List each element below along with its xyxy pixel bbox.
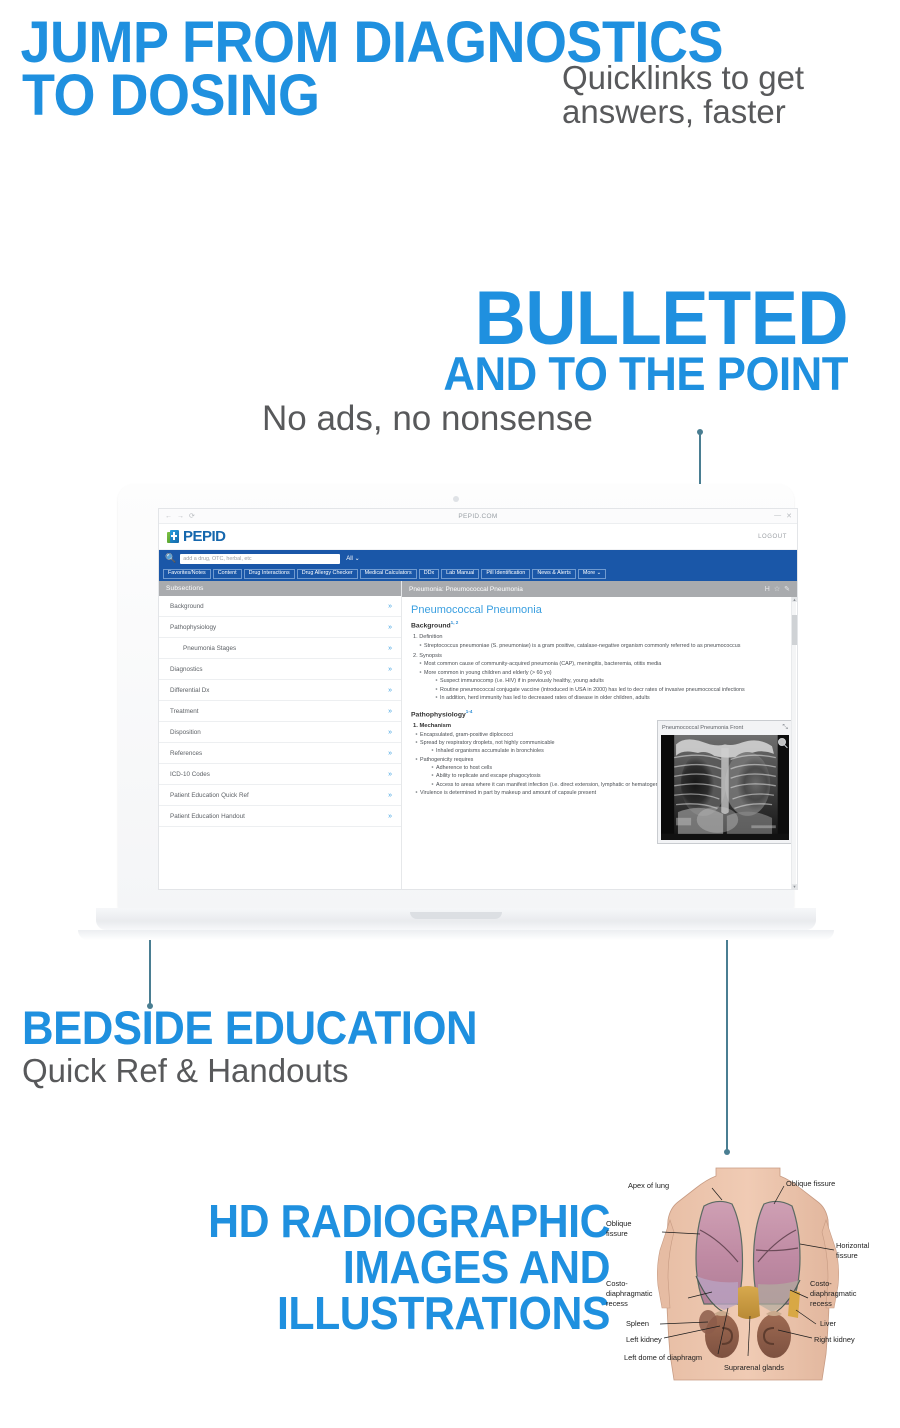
scroll-up-arrow[interactable]: ▲ [792, 597, 797, 602]
sidebar-item-label: Pathophysiology [170, 624, 216, 631]
scroll-thumb[interactable] [792, 615, 797, 645]
label-oblique-fissure-left-1: Oblique [606, 1219, 631, 1228]
thorax-anatomy-graphic: Apex of lung Oblique fissure Oblique fis… [604, 1158, 892, 1390]
sidebar-item-pathophysiology[interactable]: Pathophysiology » [159, 617, 401, 638]
pathophysiology-heading-text: Pathophysiology [411, 712, 466, 719]
edit-pencil-icon[interactable]: ✎ [784, 585, 790, 593]
list-item: In addition, herd immunity has led to de… [435, 694, 788, 702]
article-body: Pneumococcal Pneumonia Background1, 2 1.… [402, 597, 797, 889]
label-liver: Liver [820, 1319, 837, 1328]
chest-xray-graphic [661, 735, 789, 834]
article-toolbar[interactable]: H ☆ ✎ [765, 585, 790, 593]
hero-line-2: TO DOSING [22, 69, 320, 122]
sidebar-item-icd-10-codes[interactable]: ICD-10 Codes » [159, 764, 401, 785]
article-title: Pneumococcal Pneumonia [411, 604, 788, 616]
chevron-right-icon: » [388, 792, 392, 799]
bedside-line-1: BEDSIDE EDUCATION [22, 1006, 692, 1049]
label-oblique-fissure-left-2: fissure [606, 1229, 628, 1238]
torso-outline [666, 1168, 830, 1380]
background-refs: 1, 2 [451, 620, 459, 625]
pathophysiology-refs: 1-4 [466, 709, 473, 714]
tab-lab-manual[interactable]: Lab Manual [441, 569, 479, 579]
bulleted-subtext: No ads, no nonsense [0, 401, 848, 437]
label-costo-right-2: diaphragmatic [810, 1289, 857, 1298]
search-input[interactable]: add a drug, OTC, herbal, etc [180, 554, 340, 564]
search-icon: 🔍 [165, 553, 176, 564]
list-item: 1. Definition Streptococcus pneumoniae (… [413, 633, 788, 650]
xray-image[interactable] [661, 735, 789, 840]
tab-more[interactable]: More ⌄ [578, 569, 606, 579]
search-scope-label: All [346, 556, 353, 562]
chevron-right-icon: » [388, 708, 392, 715]
label-oblique-fissure-top: Oblique fissure [786, 1179, 835, 1188]
chevron-right-icon: » [388, 813, 392, 820]
tab-drug-allergy-checker[interactable]: Drug Allergy Checker [297, 569, 358, 579]
sidebar-item-disposition[interactable]: Disposition » [159, 722, 401, 743]
pepid-logo-icon [167, 530, 180, 544]
close-icon[interactable]: ✕ [786, 512, 792, 520]
background-item-2-bullets: Most common cause of community-acquired … [419, 660, 788, 702]
search-bar: 🔍 add a drug, OTC, herbal, etc All ⌄ [159, 550, 797, 567]
tab-news-alerts[interactable]: News & Alerts [532, 569, 576, 579]
magnify-icon[interactable] [778, 738, 786, 746]
sidebar-item-background[interactable]: Background » [159, 596, 401, 617]
label-costo-left-3: recess [606, 1299, 628, 1308]
label-left-kidney: Left kidney [626, 1335, 662, 1344]
label-left-dome-of-diaphragm: Left dome of diaphragm [624, 1353, 702, 1362]
browser-window: ← → ⟳ PEPID.COM — ✕ PEP [158, 508, 798, 890]
hero-subtext-line-2: answers, faster [562, 95, 892, 129]
sidebar-item-patient-education-handout[interactable]: Patient Education Handout » [159, 806, 401, 827]
background-item-1-bullets: Streptococcus pneumoniae (S. pneumoniae)… [419, 642, 788, 650]
list-item: 2. Synopsis Most common cause of communi… [413, 652, 788, 702]
laptop-base-shadow [78, 930, 834, 940]
laptop-mockup: ← → ⟳ PEPID.COM — ✕ PEP [96, 484, 816, 944]
sidebar-item-label: Background [170, 603, 204, 610]
label-spleen: Spleen [626, 1319, 649, 1328]
logout-button[interactable]: LOGOUT [758, 534, 787, 540]
laptop-lid: ← → ⟳ PEPID.COM — ✕ PEP [118, 484, 794, 912]
label-costo-left-2: diaphragmatic [606, 1289, 653, 1298]
background-item-2-subbullets: Suspect immunocomp (i.e. HIV) if in prev… [435, 677, 788, 702]
hd-headline-block: HD RADIOGRAPHIC IMAGES AND ILLUSTRATIONS [0, 1198, 610, 1336]
hero-subtext-line-1: Quicklinks to get [562, 61, 892, 95]
expand-icon[interactable]: ⤡ [782, 724, 788, 732]
list-item-text: Spread by respiratory droplets, not high… [420, 740, 555, 746]
webcam-icon [453, 496, 459, 502]
article-breadcrumb-bar: Pneumonia: Pneumococcal Pneumonia H ☆ ✎ [402, 581, 797, 597]
sidebar-item-label: Patient Education Quick Ref [170, 792, 249, 799]
chevron-right-icon: » [388, 729, 392, 736]
browser-titlebar: ← → ⟳ PEPID.COM — ✕ [159, 509, 797, 524]
tab-ddx[interactable]: DDx [419, 569, 439, 579]
hero-headline-block: JUMP FROM DIAGNOSTICS TO DOSING Quicklin… [0, 16, 900, 133]
label-horizontal-fissure-2: fissure [836, 1251, 858, 1260]
label-apex-of-lung: Apex of lung [628, 1181, 669, 1190]
sidebar-item-label: Disposition [170, 729, 201, 736]
list-item: Streptococcus pneumoniae (S. pneumoniae)… [419, 642, 788, 650]
tab-favorites-notes[interactable]: Favorites/Notes [163, 569, 211, 579]
bulleted-headline-block: BULLETED AND TO THE POINT No ads, no non… [0, 284, 900, 437]
tab-pill-identification[interactable]: Pill Identification [481, 569, 530, 579]
subsections-sidebar: Subsections Background » Pathophysiology… [159, 581, 402, 890]
sidebar-item-pneumonia-stages[interactable]: Pneumonia Stages » [159, 638, 401, 659]
background-item-1-label: 1. Definition [413, 634, 443, 640]
liver-right [788, 1290, 800, 1318]
bedside-subtext: Quick Ref & Handouts [22, 1054, 742, 1088]
sidebar-item-label: References [170, 750, 202, 757]
browser-url-text: PEPID.COM [159, 513, 797, 520]
label-costo-right-1: Costo- [810, 1279, 832, 1288]
background-heading: Background1, 2 [411, 620, 788, 629]
sidebar-item-label: Differential Dx [170, 687, 209, 694]
tab-medical-calculators[interactable]: Medical Calculators [360, 569, 417, 579]
background-heading-text: Background [411, 622, 451, 629]
tab-drug-interactions[interactable]: Drug Interactions [244, 569, 295, 579]
chevron-right-icon: » [388, 771, 392, 778]
label-costo-left-1: Costo- [606, 1279, 628, 1288]
xray-popup-header: Pneumococcal Pneumonia Front ⤡ [658, 721, 792, 735]
sidebar-item-patient-education-quick-ref[interactable]: Patient Education Quick Ref » [159, 785, 401, 806]
hd-line-1: HD RADIOGRAPHIC [43, 1198, 610, 1244]
promo-page: JUMP FROM DIAGNOSTICS TO DOSING Quicklin… [0, 0, 900, 1428]
background-item-2-label: 2. Synopsis [413, 653, 442, 659]
nav-tabs: Favorites/Notes Content Drug Interaction… [159, 567, 797, 581]
pepid-logo-text: PEPID [183, 528, 226, 545]
bulleted-line-2: AND TO THE POINT [59, 352, 848, 395]
breadcrumb: Pneumonia: Pneumococcal Pneumonia [409, 586, 523, 593]
list-item: More common in young children and elderl… [419, 669, 788, 703]
hero-subtext: Quicklinks to get answers, faster [562, 61, 892, 128]
list-item-text: Pathogenicity requires [420, 757, 473, 763]
minimize-icon[interactable]: — [774, 512, 781, 520]
sidebar-item-treatment[interactable]: Treatment » [159, 701, 401, 722]
hero-line-2-row: TO DOSING Quicklinks to get answers, fas… [0, 69, 900, 133]
chevron-right-icon: » [388, 624, 392, 631]
background-list: 1. Definition Streptococcus pneumoniae (… [413, 633, 788, 702]
sidebar-item-diagnostics[interactable]: Diagnostics » [159, 659, 401, 680]
list-item-text: More common in young children and elderl… [424, 670, 552, 676]
laptop-base-notch [410, 912, 502, 919]
label-right-kidney: Right kidney [814, 1335, 855, 1344]
liver-shape [738, 1286, 760, 1319]
list-item: Routine pneumococcal conjugate vaccine (… [435, 686, 788, 694]
chevron-down-icon: ⌄ [355, 556, 360, 562]
window-controls[interactable]: — ✕ [774, 512, 792, 520]
article-pane: Pneumonia: Pneumococcal Pneumonia H ☆ ✎ … [402, 581, 797, 890]
chevron-right-icon: » [388, 750, 392, 757]
sidebar-item-label: Diagnostics [170, 666, 203, 673]
list-item: Suspect immunocomp (i.e. HIV) if in prev… [435, 677, 788, 685]
sidebar-item-label: Pneumonia Stages [183, 645, 236, 652]
chevron-right-icon: » [388, 687, 392, 694]
bedside-headline-block: BEDSIDE EDUCATION Quick Ref & Handouts [22, 1006, 742, 1088]
history-icon[interactable]: H [765, 586, 770, 593]
search-scope-select[interactable]: All ⌄ [346, 555, 359, 562]
xray-popup-title: Pneumococcal Pneumonia Front [662, 725, 743, 731]
xray-popup: Pneumococcal Pneumonia Front ⤡ [657, 720, 793, 844]
label-horizontal-fissure-1: Horizontal [836, 1241, 870, 1250]
app-header: PEPID LOGOUT [159, 524, 797, 550]
favorite-star-icon[interactable]: ☆ [774, 585, 780, 593]
scroll-down-arrow[interactable]: ▼ [792, 884, 797, 889]
bulleted-line-1: BULLETED [59, 284, 848, 354]
sidebar-item-references[interactable]: References » [159, 743, 401, 764]
article-scrollbar[interactable]: ▲ ▼ [791, 597, 796, 889]
label-costo-right-3: recess [810, 1299, 832, 1308]
tab-content[interactable]: Content [213, 569, 242, 579]
sidebar-item-differential-dx[interactable]: Differential Dx » [159, 680, 401, 701]
pathophysiology-heading: Pathophysiology1-4 [411, 709, 788, 718]
sidebar-item-label: Treatment [170, 708, 198, 715]
chevron-right-icon: » [388, 666, 392, 673]
sidebar-item-label: ICD-10 Codes [170, 771, 210, 778]
chevron-right-icon: » [388, 645, 392, 652]
content-region: Subsections Background » Pathophysiology… [159, 581, 797, 890]
right-kidney-shape [757, 1314, 791, 1358]
hd-line-3: ILLUSTRATIONS [43, 1290, 610, 1336]
sidebar-item-label: Patient Education Handout [170, 813, 245, 820]
sidebar-header: Subsections [159, 581, 401, 596]
chevron-right-icon: » [388, 603, 392, 610]
list-item: Most common cause of community-acquired … [419, 660, 788, 668]
hd-line-2: IMAGES AND [43, 1244, 610, 1290]
anatomy-illustration: Apex of lung Oblique fissure Oblique fis… [604, 1158, 892, 1390]
label-suprarenal-glands: Suprarenal glands [724, 1363, 784, 1372]
